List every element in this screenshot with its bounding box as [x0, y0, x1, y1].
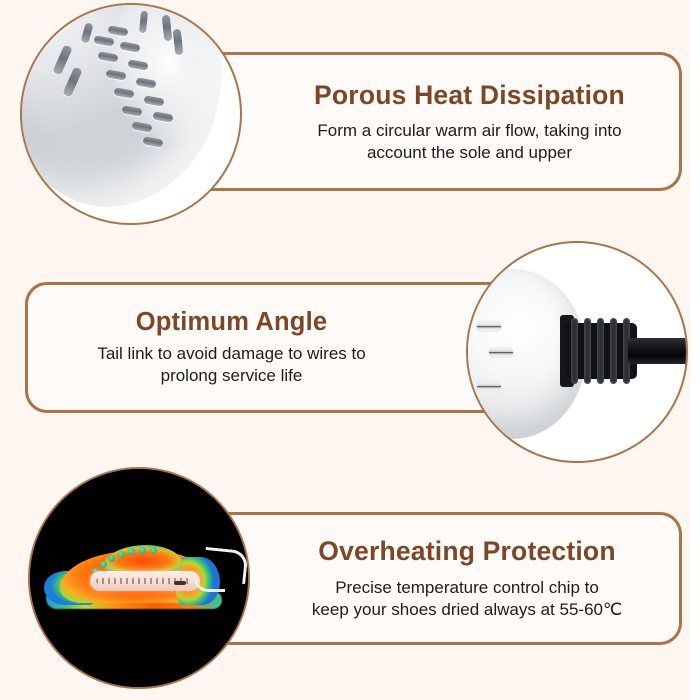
- sneaker-lace-eyelet: [118, 551, 125, 558]
- strain-relief-rib: [571, 318, 578, 384]
- sneaker-lace-eyelet: [128, 548, 135, 555]
- feature-description-line: account the sole and upper: [317, 142, 621, 164]
- product-feature-infographic: Porous Heat Dissipation Form a circular …: [0, 0, 700, 700]
- strain-relief-body: [565, 323, 637, 379]
- dryer-insert-marking: [174, 581, 186, 585]
- feature-description-optimum-angle: Tail link to avoid damage to wires to pr…: [97, 343, 365, 387]
- vent-slot-icon: [488, 347, 514, 358]
- sneaker-lace-eyelet: [100, 561, 107, 568]
- feature-description-line: Form a circular warm air flow, taking in…: [317, 120, 621, 142]
- sneaker-lace-eyelet: [150, 547, 157, 554]
- sneaker-lace-eyelet: [108, 555, 115, 562]
- product-photo-nozzle-vents: [20, 3, 242, 225]
- photo-nozzle: [22, 5, 240, 223]
- sneaker-lace-eyelet: [139, 547, 146, 554]
- feature-description-line: Tail link to avoid damage to wires to: [97, 343, 365, 365]
- feature-description-overheating-protection: Precise temperature control chip to keep…: [312, 577, 622, 621]
- feature-description-line: Precise temperature control chip to: [312, 577, 622, 599]
- vent-slot-icon: [476, 381, 502, 392]
- vent-slot-icon: [476, 321, 502, 332]
- feature-description-porous-heat-dissipation: Form a circular warm air flow, taking in…: [317, 120, 621, 164]
- feature-description-line: prolong service life: [97, 365, 365, 387]
- strain-relief-rib: [610, 318, 617, 384]
- power-cable: [628, 338, 688, 364]
- feature-title-optimum-angle: Optimum Angle: [136, 308, 327, 337]
- strain-relief-rib: [597, 318, 604, 384]
- thermal-sneaker: [44, 547, 232, 619]
- thermal-image-backdrop: [30, 469, 248, 687]
- feature-title-overheating-protection: Overheating Protection: [318, 536, 615, 567]
- feature-description-line: keep your shoes dried always at 55-60℃: [312, 599, 622, 621]
- canvas-edge-strip: [690, 0, 700, 700]
- photo-tail: [468, 243, 686, 461]
- dryer-insert-in-shoe: [90, 571, 200, 591]
- product-photo-tail-cable: [466, 241, 688, 463]
- product-photo-thermal-shoe: [28, 467, 250, 689]
- strain-relief-rib: [584, 318, 591, 384]
- feature-title-porous-heat-dissipation: Porous Heat Dissipation: [314, 80, 625, 111]
